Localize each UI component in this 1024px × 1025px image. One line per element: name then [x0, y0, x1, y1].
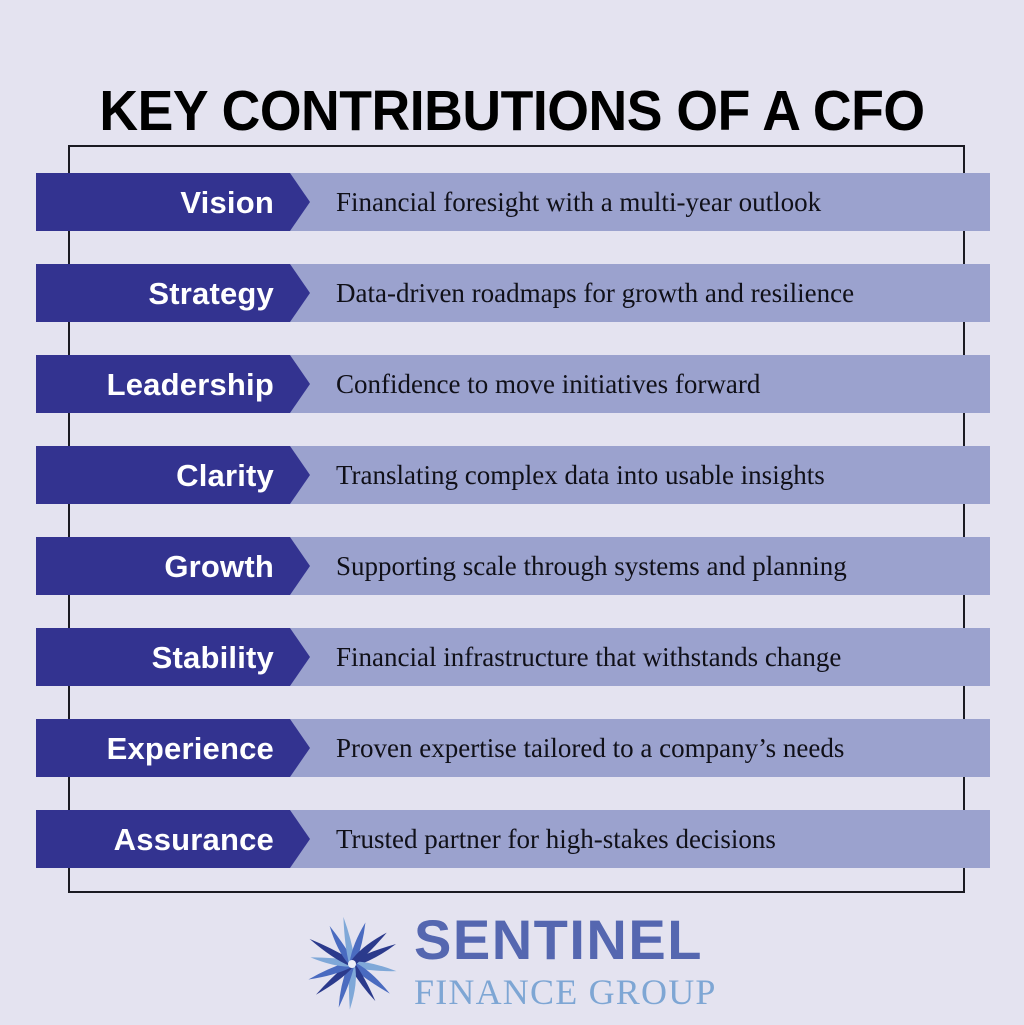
logo-tagline: FINANCE GROUP: [414, 974, 728, 1010]
row-chevron-icon: Vision: [36, 173, 310, 231]
row-label: Clarity: [176, 460, 274, 491]
row-label: Vision: [180, 187, 274, 218]
row-description: Confidence to move initiatives forward: [336, 355, 760, 413]
row-chevron-icon: Assurance: [36, 810, 310, 868]
row-label: Stability: [152, 642, 274, 673]
contribution-rows: Financial foresight with a multi-year ou…: [0, 0, 1024, 1024]
contribution-row: Translating complex data into usable ins…: [36, 446, 990, 504]
contribution-row: Data-driven roadmaps for growth and resi…: [36, 264, 990, 322]
row-description: Supporting scale through systems and pla…: [336, 537, 847, 595]
row-label: Leadership: [107, 369, 274, 400]
contribution-row: Supporting scale through systems and pla…: [36, 537, 990, 595]
contribution-row: Financial infrastructure that withstands…: [36, 628, 990, 686]
infographic-canvas: KEY CONTRIBUTIONS OF A CFO Financial for…: [0, 0, 1024, 1024]
row-description: Data-driven roadmaps for growth and resi…: [336, 264, 854, 322]
row-description: Trusted partner for high-stakes decision…: [336, 810, 776, 868]
row-chevron-icon: Strategy: [36, 264, 310, 322]
row-label: Assurance: [114, 824, 274, 855]
row-description: Proven expertise tailored to a company’s…: [336, 719, 844, 777]
company-logo: SENTINEL FINANCE GROUP: [296, 906, 728, 1022]
contribution-row: Financial foresight with a multi-year ou…: [36, 173, 990, 231]
flower-burst-icon: [296, 908, 408, 1020]
row-chevron-icon: Clarity: [36, 446, 310, 504]
row-chevron-icon: Leadership: [36, 355, 310, 413]
logo-wordmark: SENTINEL: [414, 912, 728, 968]
row-chevron-icon: Experience: [36, 719, 310, 777]
row-description: Financial foresight with a multi-year ou…: [336, 173, 821, 231]
row-chevron-icon: Stability: [36, 628, 310, 686]
row-description: Translating complex data into usable ins…: [336, 446, 825, 504]
contribution-row: Trusted partner for high-stakes decision…: [36, 810, 990, 868]
row-label: Strategy: [148, 278, 274, 309]
row-label: Experience: [107, 733, 274, 764]
row-chevron-icon: Growth: [36, 537, 310, 595]
contribution-row: Confidence to move initiatives forwardLe…: [36, 355, 990, 413]
row-description: Financial infrastructure that withstands…: [336, 628, 841, 686]
logo-text-block: SENTINEL FINANCE GROUP: [414, 912, 728, 1018]
row-label: Growth: [164, 551, 274, 582]
contribution-row: Proven expertise tailored to a company’s…: [36, 719, 990, 777]
